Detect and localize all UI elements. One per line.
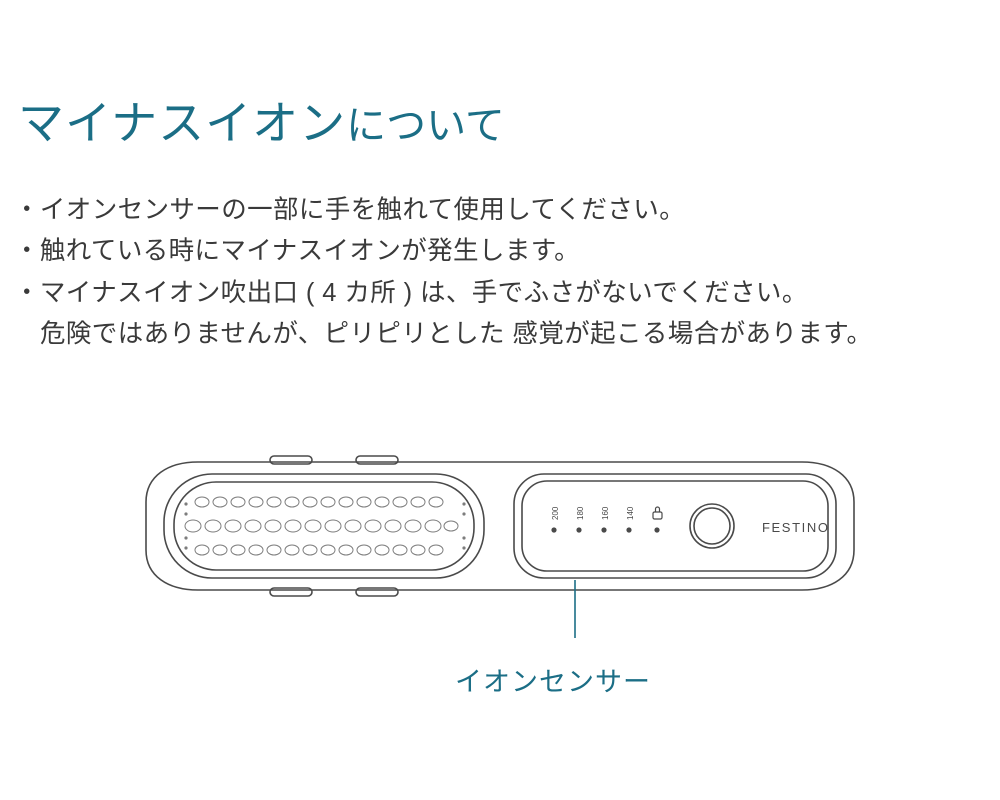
page-title-main: マイナスイオン xyxy=(18,97,346,149)
lock-icon xyxy=(653,507,662,519)
callout-label: イオンセンサー xyxy=(455,660,651,699)
list-item: ・イオンセンサーの一部に手を触れて使用してください。 xyxy=(14,190,989,231)
indicator-label-140: 140 xyxy=(626,506,635,520)
document-page: マイナスイオンについて ・イオンセンサーの一部に手を触れて使用してください。 ・… xyxy=(0,0,1000,800)
indicator-label-180: 180 xyxy=(576,506,585,520)
device-illustration: 200 180 160 140 xyxy=(120,440,880,640)
brand-label: FESTINO xyxy=(762,520,830,535)
list-item: ・マイナスイオン吹出口 ( 4 カ所 ) は、手でふさがないでください。 xyxy=(14,273,989,314)
power-button xyxy=(690,504,734,548)
bullet-list: ・イオンセンサーの一部に手を触れて使用してください。 ・触れている時にマイナスイ… xyxy=(14,190,989,355)
list-item: 危険ではありませんが、ピリピリとした 感覚が起こる場合があります。 xyxy=(14,314,989,355)
list-item: ・触れている時にマイナスイオンが発生します。 xyxy=(14,231,989,272)
indicator-label-160: 160 xyxy=(601,506,610,520)
page-title-suffix: について xyxy=(346,104,505,148)
page-title: マイナスイオンについて xyxy=(18,98,505,149)
indicator-label-200: 200 xyxy=(551,506,560,520)
